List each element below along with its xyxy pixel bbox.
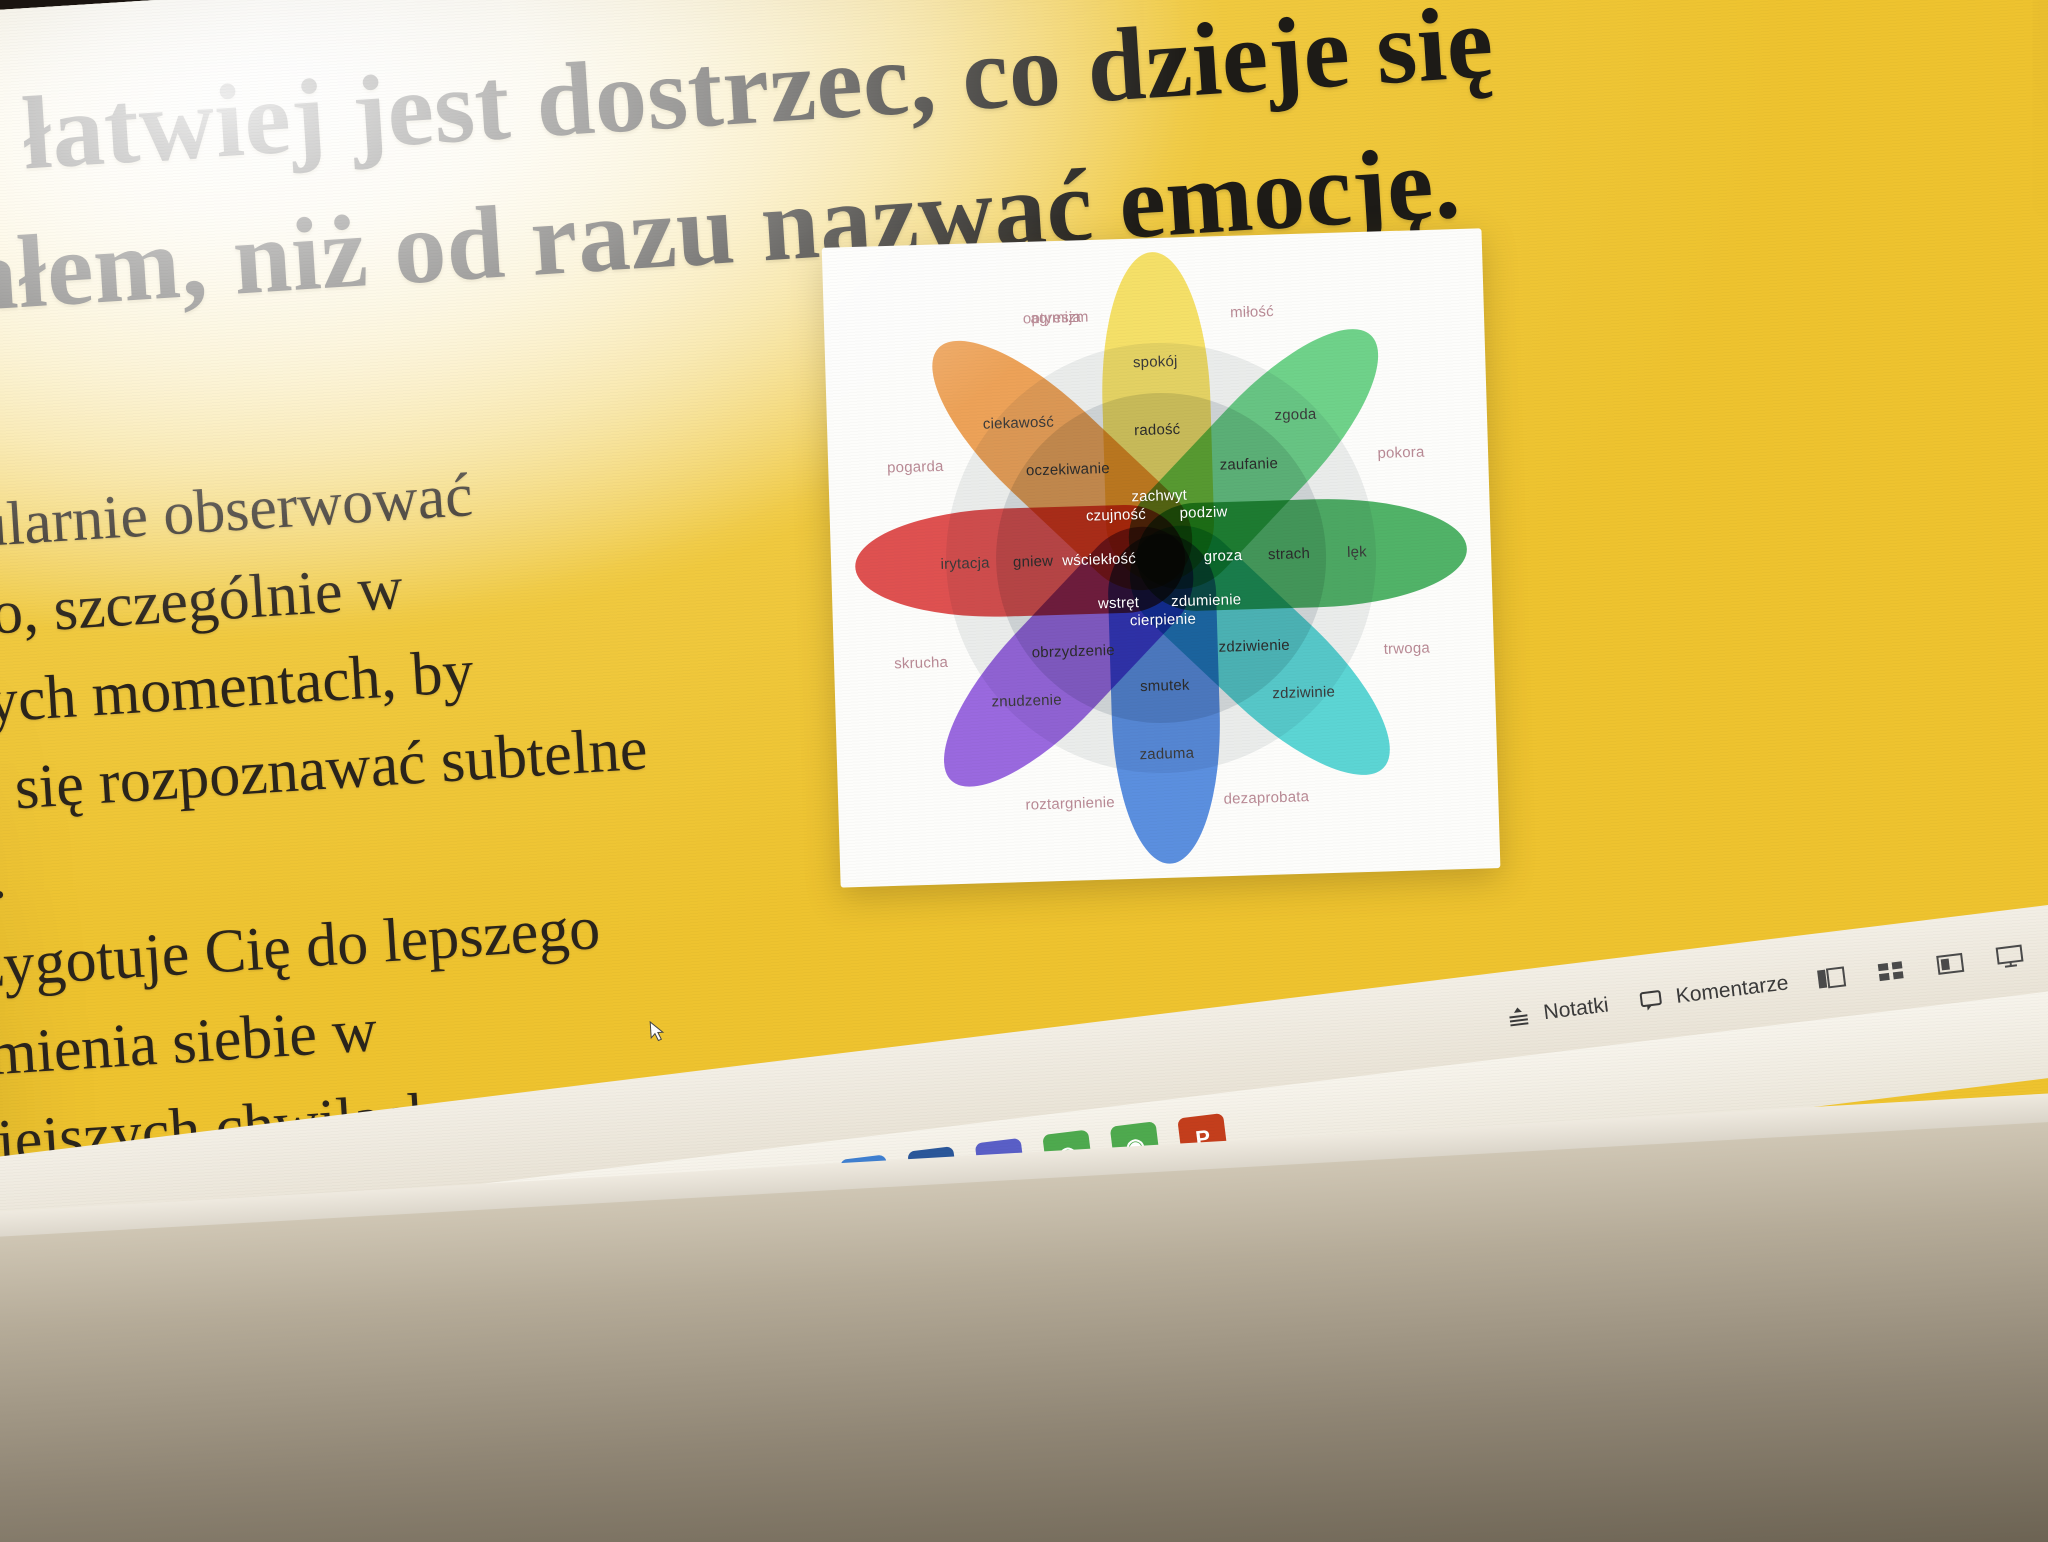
wheel-label-outer: roztargnienie <box>1025 794 1115 814</box>
comment-bubble-icon <box>1633 983 1670 1017</box>
wheel-label-core: wściekłość <box>1062 550 1136 569</box>
wheel-label-outer: dezaprobata <box>1223 788 1309 808</box>
wheel-label-inner: zgoda <box>1274 406 1316 424</box>
comments-button[interactable]: Komentarze <box>1633 968 1791 1017</box>
wheel-label-outer: pogarda <box>887 458 944 477</box>
wheel-label-mid: zaufanie <box>1219 455 1278 474</box>
notes-label: Notatki <box>1542 993 1610 1025</box>
emotion-wheel-graphic: zachwytpodziwgrozazdumieniecierpieniewst… <box>873 280 1449 836</box>
wheel-label-mid: zdziwienie <box>1218 636 1290 655</box>
wheel-label-outer: skrucha <box>894 654 948 673</box>
mouse-cursor <box>649 1020 666 1043</box>
normal-view-icon[interactable] <box>1812 961 1849 995</box>
wheel-label-core: wstręt <box>1098 594 1140 612</box>
wheel-label-core: groza <box>1204 547 1243 565</box>
wheel-label-inner: irytacja <box>940 555 990 573</box>
wheel-label-inner: lęk <box>1347 543 1367 561</box>
wheel-label-core: czujność <box>1086 506 1146 525</box>
wheel-label-core: podziw <box>1179 504 1227 522</box>
wheel-label-outer: miłość <box>1230 303 1274 321</box>
wheel-label-inner: zaduma <box>1139 745 1194 764</box>
wheel-label-mid: radość <box>1134 421 1181 439</box>
wheel-label-inner: spokój <box>1133 353 1178 371</box>
wheel-label-mid: smutek <box>1140 677 1190 695</box>
slideshow-view-icon[interactable] <box>1991 939 2028 973</box>
reading-view-icon[interactable] <box>1931 946 1968 980</box>
slide-sorter-view-icon[interactable] <box>1872 954 1909 988</box>
wheel-label-mid: oczekiwanie <box>1026 460 1110 479</box>
wheel-label-core: cierpienie <box>1130 610 1197 629</box>
wheel-label-core: zachwyt <box>1131 487 1187 506</box>
wheel-label-mid: obrzydzenie <box>1031 641 1115 660</box>
wheel-petals <box>873 280 1433 297</box>
wheel-label-mid: gniew <box>1013 553 1054 571</box>
emotion-wheel-image: zachwytpodziwgrozazdumieniecierpieniewst… <box>822 228 1501 887</box>
wheel-label-mid: strach <box>1268 545 1311 563</box>
comments-label: Komentarze <box>1675 971 1790 1009</box>
wheel-label-outer: trwoga <box>1383 640 1430 658</box>
notes-icon <box>1500 999 1537 1033</box>
powerpoint-slide: em łatwiej jest dostrzec, co dzieje się … <box>0 0 2048 16</box>
wheel-label-inner: zdziwinie <box>1272 683 1335 702</box>
wheel-label-core: zdumienie <box>1171 591 1242 610</box>
photo-of-laptop-screen: em łatwiej jest dostrzec, co dzieje się … <box>0 0 2048 1542</box>
wheel-label-outer: pokora <box>1377 443 1425 461</box>
wheel-label-inner: znudzenie <box>991 691 1062 710</box>
wheel-label-outer: agresja <box>1030 309 1081 327</box>
wheel-label-inner: ciekawość <box>983 414 1054 433</box>
notes-button[interactable]: Notatki <box>1500 990 1610 1033</box>
